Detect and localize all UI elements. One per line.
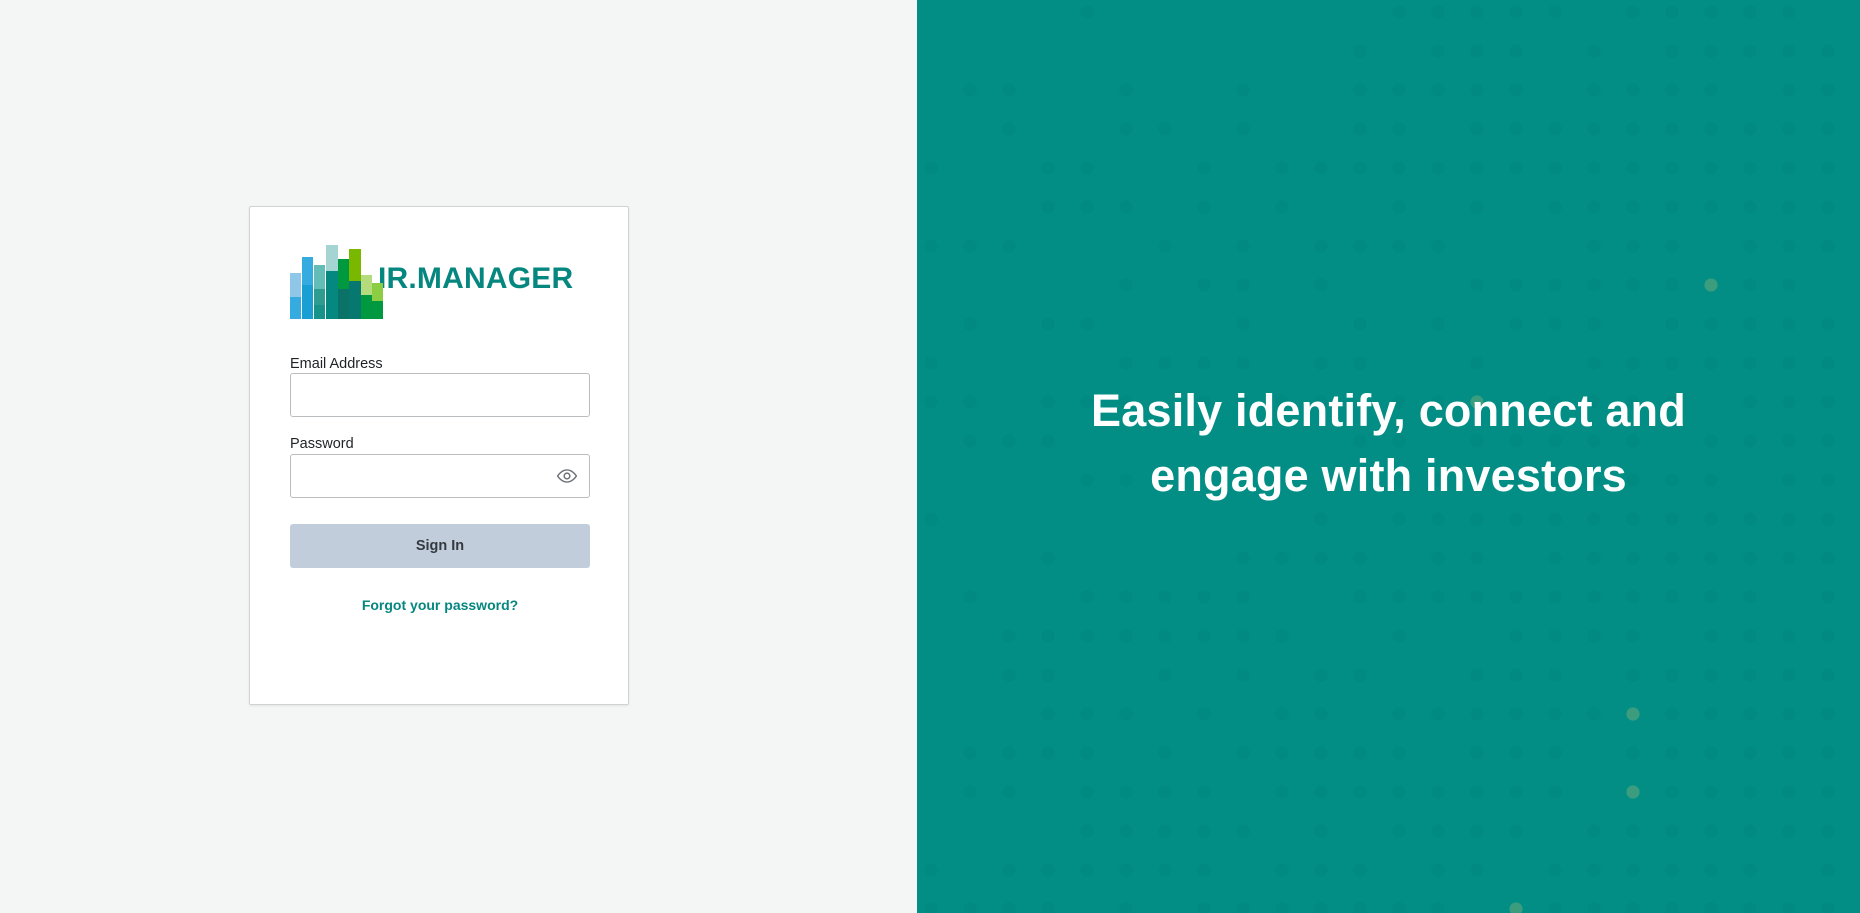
pattern-dot: [1821, 707, 1834, 720]
pattern-dot: [1821, 824, 1834, 837]
password-input[interactable]: [290, 454, 590, 498]
pattern-dot: [1197, 824, 1210, 837]
pattern-dot: [1119, 707, 1132, 720]
pattern-dot: [1002, 746, 1015, 759]
pattern-dot: [1782, 83, 1795, 96]
pattern-dot: [1626, 590, 1639, 603]
pattern-dot: [1626, 902, 1639, 913]
pattern-dot: [1509, 668, 1522, 681]
pattern-dot: [1041, 317, 1054, 330]
pattern-dot: [1665, 317, 1678, 330]
pattern-dot: [1431, 902, 1444, 913]
pattern-dot: [1236, 317, 1249, 330]
pattern-dot: [1743, 5, 1756, 18]
pattern-dot: [1353, 551, 1366, 564]
pattern-dot: [1704, 902, 1717, 913]
pattern-dot: [1314, 824, 1327, 837]
pattern-dot: [963, 83, 976, 96]
pattern-dot: [1392, 239, 1405, 252]
pattern-dot: [924, 356, 937, 369]
pattern-dot: [1587, 200, 1600, 213]
pattern-dot: [1119, 83, 1132, 96]
pattern-dot: [1197, 785, 1210, 798]
email-input[interactable]: [290, 373, 590, 417]
pattern-dot: [1548, 746, 1561, 759]
pattern-dot: [1119, 122, 1132, 135]
pattern-dot: [1314, 785, 1327, 798]
logo-bar: [290, 297, 301, 319]
pattern-dot: [1080, 161, 1093, 174]
pattern-dot: [1587, 278, 1600, 291]
pattern-dot: [1236, 629, 1249, 642]
pattern-dot: [1665, 356, 1678, 369]
pattern-dot: [1431, 161, 1444, 174]
pattern-dot: [1236, 83, 1249, 96]
pattern-dot: [1392, 5, 1405, 18]
pattern-dot: [1353, 902, 1366, 913]
pattern-dot: [1353, 239, 1366, 252]
pattern-dot: [1704, 317, 1717, 330]
promo-headline: Easily identify, connect and engage with…: [917, 378, 1860, 509]
pattern-dot: [1587, 512, 1600, 525]
pattern-dot: [1470, 785, 1483, 798]
accent-dot: [1626, 707, 1639, 720]
pattern-dot: [1743, 239, 1756, 252]
pattern-dot: [1509, 590, 1522, 603]
pattern-dot: [1236, 590, 1249, 603]
pattern-dot: [1002, 668, 1015, 681]
pattern-dot: [1119, 785, 1132, 798]
pattern-dot: [1782, 356, 1795, 369]
pattern-dot: [1704, 551, 1717, 564]
pattern-dot: [1470, 668, 1483, 681]
pattern-dot: [1509, 629, 1522, 642]
pattern-dot: [1041, 746, 1054, 759]
pattern-dot: [1626, 200, 1639, 213]
login-card: IR.MANAGER Email Address Password: [249, 206, 629, 705]
pattern-dot: [1158, 356, 1171, 369]
pattern-dot: [1275, 161, 1288, 174]
pattern-dot: [1626, 824, 1639, 837]
pattern-dot: [1041, 629, 1054, 642]
pattern-dot: [1743, 356, 1756, 369]
pattern-dot: [1080, 590, 1093, 603]
pattern-dot: [1665, 824, 1678, 837]
pattern-dot: [1626, 239, 1639, 252]
pattern-dot: [1080, 317, 1093, 330]
pattern-dot: [1509, 317, 1522, 330]
pattern-dot: [1314, 668, 1327, 681]
pattern-dot: [1275, 746, 1288, 759]
pattern-dot: [1392, 161, 1405, 174]
pattern-dot: [1080, 707, 1093, 720]
pattern-dot: [1821, 122, 1834, 135]
logo-bar: [338, 289, 349, 319]
pattern-dot: [1743, 317, 1756, 330]
pattern-dot: [1158, 785, 1171, 798]
pattern-dot: [1548, 122, 1561, 135]
pattern-dot: [1314, 707, 1327, 720]
promo-pane: Easily identify, connect and engage with…: [917, 0, 1860, 913]
pattern-dot: [1509, 746, 1522, 759]
pattern-dot: [1158, 746, 1171, 759]
pattern-dot: [1158, 629, 1171, 642]
pattern-dot: [1587, 356, 1600, 369]
pattern-dot: [1587, 629, 1600, 642]
pattern-dot: [1782, 629, 1795, 642]
pattern-dot: [1002, 902, 1015, 913]
pattern-dot: [1392, 824, 1405, 837]
pattern-dot: [1470, 551, 1483, 564]
pattern-dot: [1392, 83, 1405, 96]
pattern-dot: [1704, 44, 1717, 57]
pattern-dot: [1743, 707, 1756, 720]
pattern-dot: [1002, 83, 1015, 96]
pattern-dot: [1392, 590, 1405, 603]
pattern-dot: [1353, 746, 1366, 759]
pattern-dot: [1743, 824, 1756, 837]
pattern-dot: [1041, 551, 1054, 564]
pattern-dot: [1782, 5, 1795, 18]
pattern-dot: [1002, 239, 1015, 252]
pattern-dot: [1002, 629, 1015, 642]
pattern-dot: [1197, 863, 1210, 876]
pattern-dot: [1509, 122, 1522, 135]
pattern-dot: [1821, 551, 1834, 564]
pattern-dot: [1587, 863, 1600, 876]
pattern-dot: [1548, 512, 1561, 525]
pattern-dot: [1470, 707, 1483, 720]
pattern-dot: [1353, 668, 1366, 681]
pattern-dot: [1431, 590, 1444, 603]
pattern-dot: [1704, 824, 1717, 837]
pattern-dot: [1704, 746, 1717, 759]
pattern-dot: [1119, 356, 1132, 369]
pattern-dot: [1314, 356, 1327, 369]
pattern-dot: [1743, 161, 1756, 174]
pattern-dot: [1626, 629, 1639, 642]
pattern-dot: [1041, 707, 1054, 720]
pattern-dot: [1782, 902, 1795, 913]
pattern-dot: [1548, 863, 1561, 876]
pattern-dot: [1314, 161, 1327, 174]
pattern-dot: [1431, 317, 1444, 330]
pattern-dot: [1743, 785, 1756, 798]
pattern-dot: [1041, 668, 1054, 681]
pattern-dot: [1704, 200, 1717, 213]
pattern-dot: [1548, 161, 1561, 174]
pattern-dot: [1314, 278, 1327, 291]
pattern-dot: [1080, 824, 1093, 837]
pattern-dot: [1782, 707, 1795, 720]
pattern-dot: [1626, 512, 1639, 525]
pattern-dot: [1548, 200, 1561, 213]
pattern-dot: [1626, 551, 1639, 564]
logo-bar: [326, 271, 338, 319]
pattern-dot: [1158, 122, 1171, 135]
pattern-dot: [1704, 83, 1717, 96]
pattern-dot: [1665, 278, 1678, 291]
pattern-dot: [1626, 278, 1639, 291]
pattern-dot: [1743, 122, 1756, 135]
pattern-dot: [1821, 317, 1834, 330]
pattern-dot: [1821, 629, 1834, 642]
pattern-dot: [1314, 512, 1327, 525]
pattern-dot: [1080, 200, 1093, 213]
pattern-dot: [1704, 707, 1717, 720]
pattern-dot: [1587, 161, 1600, 174]
logo-bar: [361, 295, 372, 319]
pattern-dot: [1431, 824, 1444, 837]
pattern-dot: [1704, 512, 1717, 525]
logo-bar: [372, 301, 383, 319]
pattern-dot: [1704, 122, 1717, 135]
pattern-dot: [1236, 551, 1249, 564]
pattern-dot: [1431, 512, 1444, 525]
password-label: Password: [290, 436, 354, 452]
pattern-dot: [1743, 629, 1756, 642]
pattern-dot: [1821, 83, 1834, 96]
logo-bar: [314, 305, 325, 319]
pattern-dot: [1197, 590, 1210, 603]
pattern-dot: [1548, 317, 1561, 330]
pattern-dot: [1353, 122, 1366, 135]
pattern-dot: [1080, 5, 1093, 18]
pattern-dot: [1509, 707, 1522, 720]
pattern-dot: [1665, 746, 1678, 759]
pattern-dot: [1275, 551, 1288, 564]
pattern-dot: [1665, 161, 1678, 174]
pattern-dot: [1197, 707, 1210, 720]
pattern-dot: [1392, 122, 1405, 135]
stacked-bars-logo-icon: [290, 239, 360, 319]
pattern-dot: [1704, 5, 1717, 18]
pattern-dot: [1626, 863, 1639, 876]
pattern-dot: [1626, 356, 1639, 369]
pattern-dot: [1743, 512, 1756, 525]
pattern-dot: [1548, 590, 1561, 603]
eye-icon[interactable]: [553, 462, 581, 490]
pattern-dot: [1275, 902, 1288, 913]
pattern-dot: [1743, 200, 1756, 213]
pattern-dot: [1626, 668, 1639, 681]
accent-dot: [1509, 902, 1522, 913]
pattern-dot: [1470, 44, 1483, 57]
pattern-dot: [1587, 44, 1600, 57]
pattern-dot: [1509, 83, 1522, 96]
pattern-dot: [1080, 785, 1093, 798]
pattern-dot: [1431, 239, 1444, 252]
pattern-dot: [1197, 629, 1210, 642]
pattern-dot: [1353, 317, 1366, 330]
pattern-dot: [1119, 200, 1132, 213]
pattern-dot: [924, 239, 937, 252]
pattern-dot: [1158, 668, 1171, 681]
pattern-dot: [963, 746, 976, 759]
pattern-dot: [1119, 590, 1132, 603]
pattern-dot: [1665, 785, 1678, 798]
pattern-dot: [1665, 551, 1678, 564]
pattern-dot: [1314, 902, 1327, 913]
pattern-dot: [1119, 629, 1132, 642]
brand-wordmark: IR.MANAGER: [378, 264, 573, 294]
pattern-dot: [1743, 590, 1756, 603]
pattern-dot: [924, 902, 937, 913]
pattern-dot: [1782, 317, 1795, 330]
pattern-dot: [1782, 785, 1795, 798]
pattern-dot: [1236, 746, 1249, 759]
pattern-dot: [1431, 83, 1444, 96]
pattern-dot: [1236, 239, 1249, 252]
pattern-dot: [1392, 512, 1405, 525]
pattern-dot: [1782, 239, 1795, 252]
pattern-dot: [1509, 824, 1522, 837]
pattern-dot: [1782, 668, 1795, 681]
pattern-dot: [963, 317, 976, 330]
pattern-dot: [1197, 278, 1210, 291]
pattern-dot: [1119, 902, 1132, 913]
pattern-dot: [1509, 5, 1522, 18]
pattern-dot: [1587, 239, 1600, 252]
pattern-dot: [1626, 161, 1639, 174]
pattern-dot: [1236, 902, 1249, 913]
pattern-dot: [1002, 785, 1015, 798]
pattern-dot: [1821, 239, 1834, 252]
pattern-dot: [1704, 863, 1717, 876]
pattern-dot: [1626, 5, 1639, 18]
pattern-dot: [1080, 863, 1093, 876]
pattern-dot: [1782, 44, 1795, 57]
pattern-dot: [1821, 356, 1834, 369]
pattern-dot: [1158, 590, 1171, 603]
pattern-dot: [924, 512, 937, 525]
pattern-dot: [1080, 746, 1093, 759]
pattern-dot: [1431, 551, 1444, 564]
pattern-dot: [1587, 707, 1600, 720]
forgot-password-row: Forgot your password?: [290, 597, 590, 615]
pattern-dot: [1236, 824, 1249, 837]
pattern-dot: [1587, 122, 1600, 135]
pattern-dot: [1626, 746, 1639, 759]
pattern-dot: [1119, 278, 1132, 291]
pattern-dot: [963, 239, 976, 252]
pattern-dot: [1197, 356, 1210, 369]
pattern-dot: [1158, 863, 1171, 876]
pattern-dot: [1548, 551, 1561, 564]
pattern-dot: [1782, 512, 1795, 525]
pattern-dot: [1704, 668, 1717, 681]
pattern-dot: [1431, 785, 1444, 798]
pattern-dot: [1587, 902, 1600, 913]
pattern-dot: [1665, 239, 1678, 252]
pattern-dot: [1587, 824, 1600, 837]
pattern-dot: [1236, 122, 1249, 135]
pattern-dot: [1587, 317, 1600, 330]
pattern-dot: [1158, 239, 1171, 252]
sign-in-button[interactable]: Sign In: [290, 524, 590, 568]
pattern-dot: [1314, 746, 1327, 759]
pattern-dot: [1548, 785, 1561, 798]
pattern-dot: [1470, 122, 1483, 135]
pattern-dot: [1002, 863, 1015, 876]
pattern-dot: [1782, 200, 1795, 213]
pattern-dot: [1236, 668, 1249, 681]
pattern-dot: [1704, 356, 1717, 369]
pattern-dot: [1548, 707, 1561, 720]
pattern-dot: [1548, 5, 1561, 18]
pattern-dot: [1821, 590, 1834, 603]
pattern-dot: [924, 161, 937, 174]
pattern-dot: [1470, 83, 1483, 96]
pattern-dot: [1197, 161, 1210, 174]
pattern-dot: [1470, 512, 1483, 525]
pattern-dot: [1470, 824, 1483, 837]
pattern-dot: [1353, 44, 1366, 57]
pattern-dot: [1548, 668, 1561, 681]
pattern-dot: [1821, 200, 1834, 213]
pattern-dot: [1509, 161, 1522, 174]
brand-header: IR.MANAGER: [290, 239, 573, 319]
pattern-dot: [1821, 44, 1834, 57]
pattern-dot: [1665, 44, 1678, 57]
pattern-dot: [1821, 863, 1834, 876]
pattern-dot: [1665, 5, 1678, 18]
pattern-dot: [963, 902, 976, 913]
pattern-dot: [1509, 512, 1522, 525]
pattern-dot: [1743, 668, 1756, 681]
login-form: Email Address Password Sign In: [290, 355, 590, 615]
pattern-dot: [1665, 668, 1678, 681]
pattern-dot: [1392, 629, 1405, 642]
pattern-dot: [1665, 902, 1678, 913]
login-pane: IR.MANAGER Email Address Password: [0, 0, 917, 913]
pattern-dot: [1080, 629, 1093, 642]
pattern-dot: [1236, 278, 1249, 291]
pattern-dot: [1431, 707, 1444, 720]
pattern-dot: [963, 785, 976, 798]
pattern-dot: [1548, 902, 1561, 913]
pattern-dot: [1743, 278, 1756, 291]
pattern-dot: [1587, 551, 1600, 564]
pattern-dot: [1470, 356, 1483, 369]
pattern-dot: [1392, 200, 1405, 213]
pattern-dot: [1158, 824, 1171, 837]
pattern-dot: [1041, 161, 1054, 174]
pattern-dot: [1275, 863, 1288, 876]
pattern-dot: [1353, 590, 1366, 603]
forgot-password-link[interactable]: Forgot your password?: [362, 597, 518, 613]
pattern-dot: [1314, 863, 1327, 876]
pattern-dot: [1704, 161, 1717, 174]
pattern-dot: [1587, 83, 1600, 96]
pattern-dot: [1353, 785, 1366, 798]
pattern-dot: [1431, 863, 1444, 876]
pattern-dot: [1314, 239, 1327, 252]
pattern-dot: [1704, 590, 1717, 603]
pattern-dot: [1119, 863, 1132, 876]
pattern-dot: [1821, 746, 1834, 759]
pattern-dot: [1782, 824, 1795, 837]
pattern-dot: [1236, 356, 1249, 369]
pattern-dot: [1509, 44, 1522, 57]
pattern-dot: [1626, 83, 1639, 96]
pattern-dot: [1665, 590, 1678, 603]
pattern-dot: [1548, 278, 1561, 291]
pattern-dot: [1392, 902, 1405, 913]
pattern-dot: [924, 863, 937, 876]
pattern-dot: [1392, 785, 1405, 798]
logo-bar: [302, 285, 313, 319]
